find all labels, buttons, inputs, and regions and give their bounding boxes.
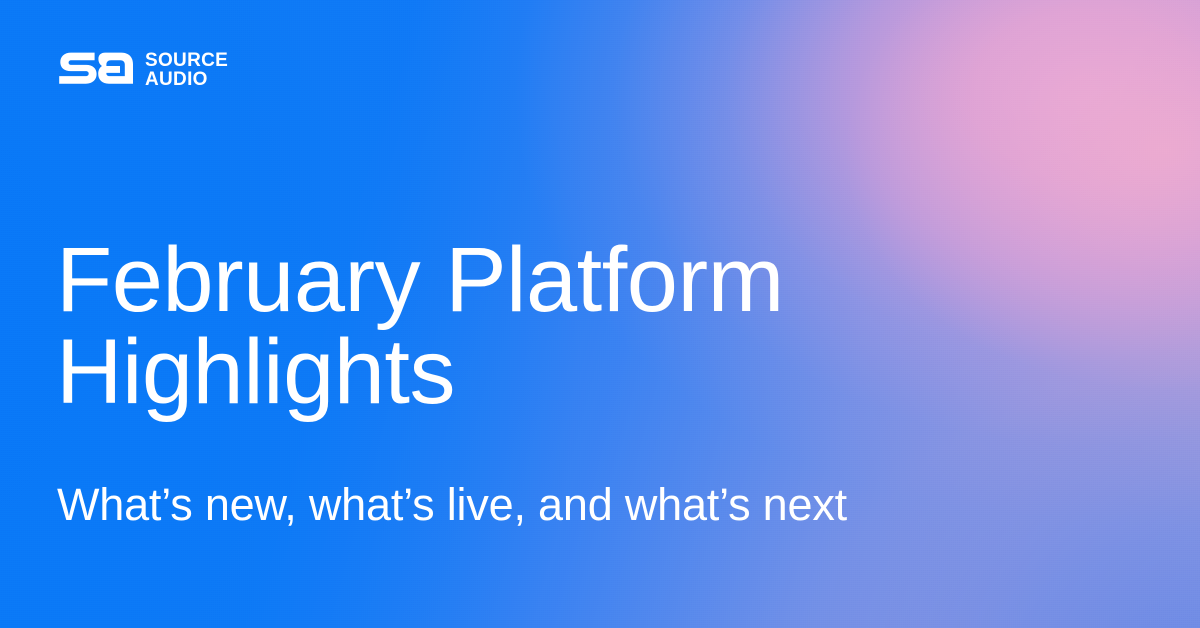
logo-word-audio: AUDIO bbox=[145, 71, 228, 89]
marketing-banner: SOURCE AUDIO February Platform Highlight… bbox=[0, 0, 1200, 628]
logo-word-source: SOURCE bbox=[145, 52, 228, 70]
source-audio-logo: SOURCE AUDIO bbox=[58, 52, 228, 89]
banner-content: SOURCE AUDIO February Platform Highlight… bbox=[0, 0, 1200, 628]
subheading: What’s new, what’s live, and what’s next bbox=[57, 480, 847, 530]
sa-logomark-icon bbox=[58, 52, 134, 89]
headline-line-2: Highlights bbox=[56, 326, 784, 418]
headline-line-1: February Platform bbox=[56, 234, 784, 326]
logo-wordmark: SOURCE AUDIO bbox=[145, 52, 228, 88]
headline: February Platform Highlights bbox=[56, 234, 784, 418]
